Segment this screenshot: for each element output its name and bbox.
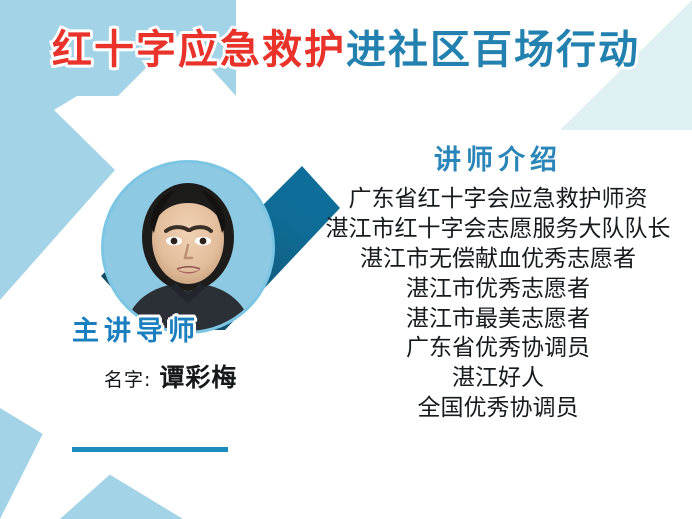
list-item: 湛江好人 <box>310 364 686 394</box>
title-red-part: 红十字应急救护 <box>52 28 346 72</box>
portrait-illustration <box>104 163 272 331</box>
list-item: 广东省优秀协调员 <box>310 334 686 364</box>
list-item: 湛江市红十字会志愿服务大队队长 <box>310 215 686 245</box>
credential-list: 广东省红十字会应急救护师资 湛江市红十字会志愿服务大队队长 湛江市无偿献血优秀志… <box>310 185 686 424</box>
speaker-name-line: 名字:谭彩梅 <box>104 358 237 394</box>
list-item: 广东省红十字会应急救护师资 <box>310 185 686 215</box>
speaker-name-label: 名字: <box>104 369 151 391</box>
presentation-slide: 红十字应急救护进社区百场行动 <box>0 0 692 519</box>
instructor-intro-panel: 讲师介绍 广东省红十字会应急救护师资 湛江市红十字会志愿服务大队队长 湛江市无偿… <box>310 138 686 424</box>
speaker-photo <box>104 163 272 331</box>
list-item: 全国优秀协调员 <box>310 394 686 424</box>
accent-underline <box>72 447 228 452</box>
slide-title: 红十字应急救护进社区百场行动 <box>0 28 692 72</box>
intro-heading: 讲师介绍 <box>310 138 686 177</box>
list-item: 湛江市无偿献血优秀志愿者 <box>310 245 686 275</box>
speaker-role-badge: 主讲导师 <box>72 309 200 348</box>
list-item: 湛江市最美志愿者 <box>310 305 686 335</box>
speaker-name-value: 谭彩梅 <box>159 363 237 392</box>
title-blue-part: 进社区百场行动 <box>346 28 640 72</box>
list-item: 湛江市优秀志愿者 <box>310 275 686 305</box>
